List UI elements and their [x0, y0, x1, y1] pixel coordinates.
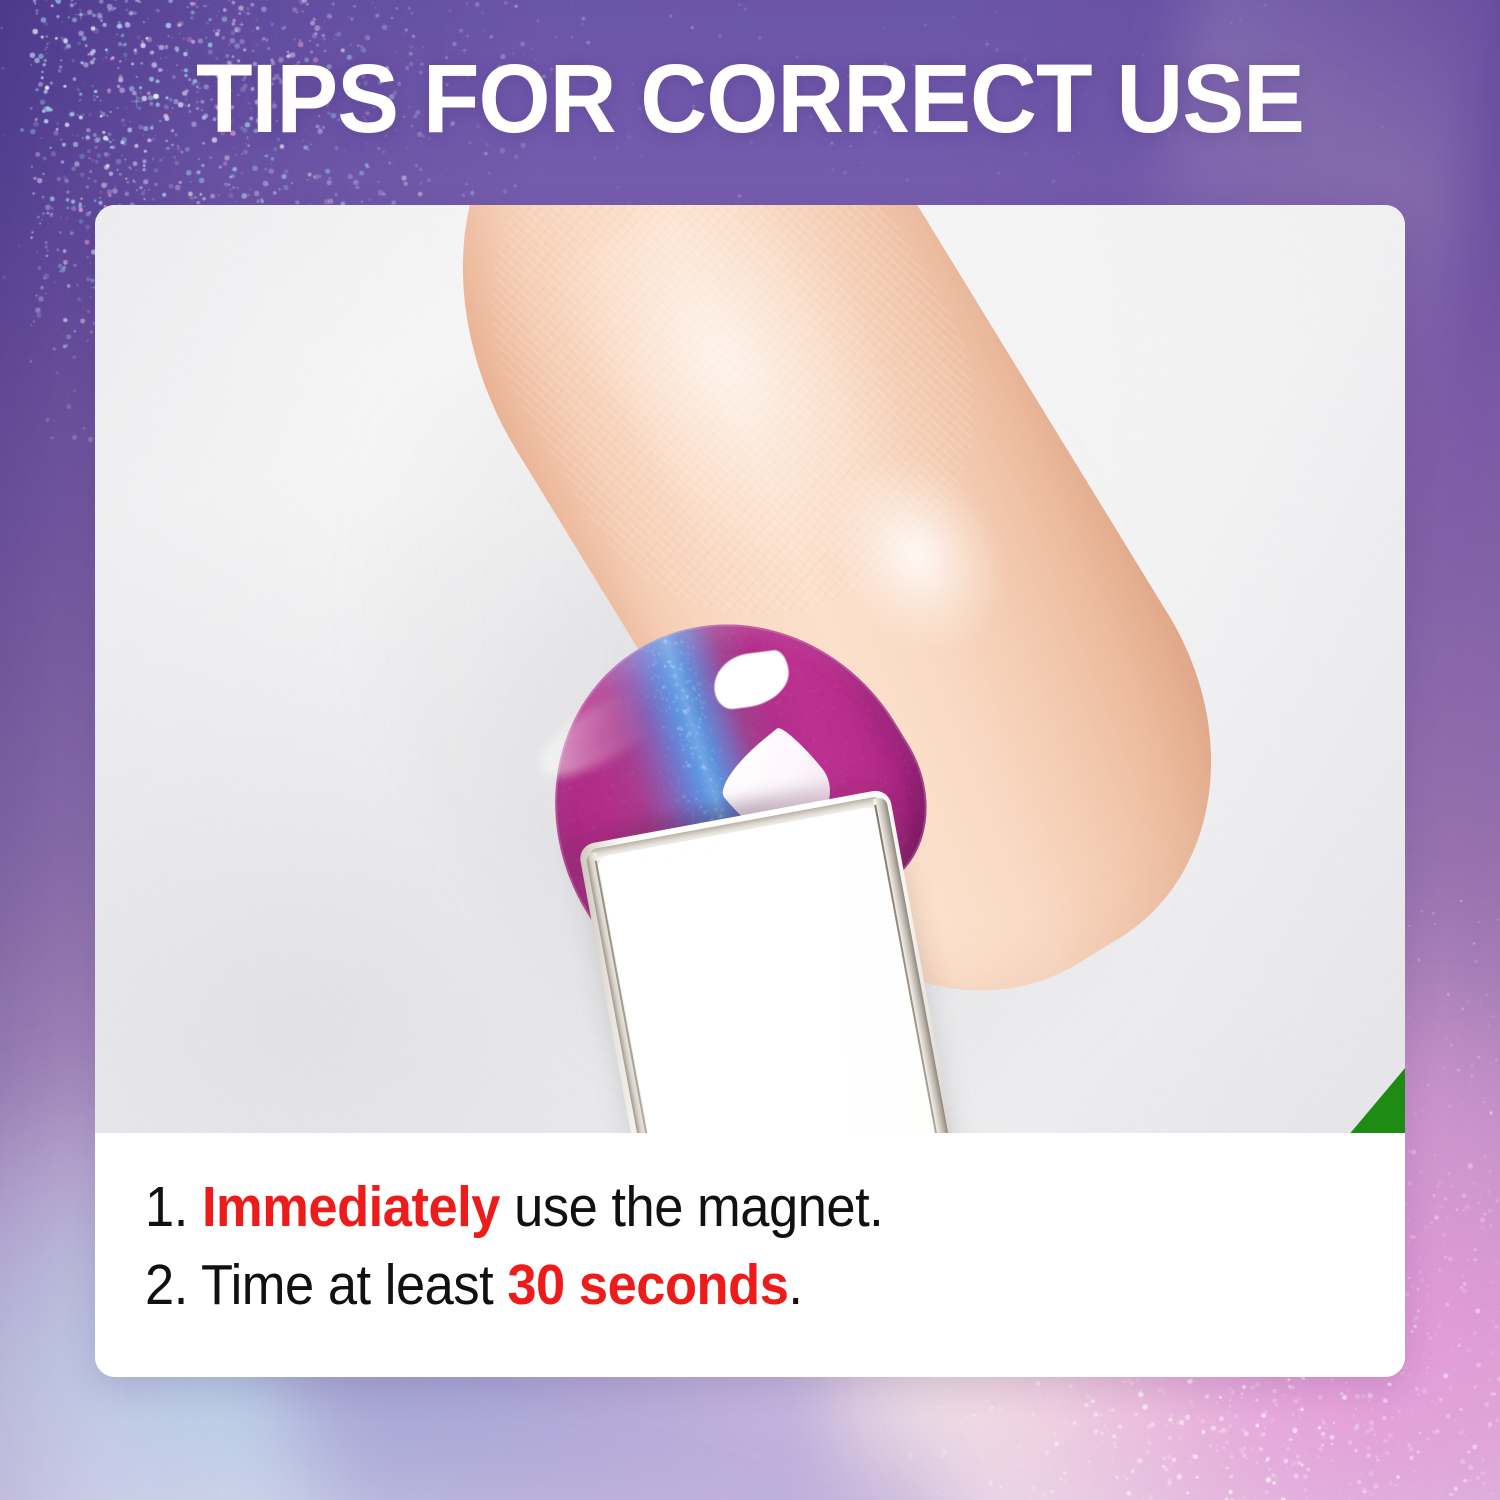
instruction-2-number: 2. [145, 1253, 188, 1317]
infographic-root: TIPS FOR CORRECT USE [0, 0, 1500, 1500]
instruction-item-2: 2. Time at least 30 seconds. [145, 1251, 1267, 1319]
magnet-on-nail-photo [95, 205, 1405, 1133]
instruction-2-post: . [788, 1253, 802, 1317]
instructions-panel: 1. Immediately use the magnet. 2. Time a… [95, 1133, 1405, 1377]
instruction-1-number: 1. [145, 1175, 188, 1239]
page-title: TIPS FOR CORRECT USE [34, 50, 1467, 147]
green-check-icon [1200, 1060, 1405, 1133]
instruction-1-highlight: Immediately [202, 1175, 500, 1239]
content-card: 1. Immediately use the magnet. 2. Time a… [95, 205, 1405, 1377]
instruction-2-highlight: 30 seconds [507, 1253, 788, 1317]
instruction-item-1: 1. Immediately use the magnet. [145, 1173, 1267, 1241]
instructions-list: 1. Immediately use the magnet. 2. Time a… [145, 1173, 1365, 1319]
instruction-2-pre: Time at least [188, 1253, 508, 1317]
instruction-1-post: use the magnet. [500, 1175, 883, 1239]
